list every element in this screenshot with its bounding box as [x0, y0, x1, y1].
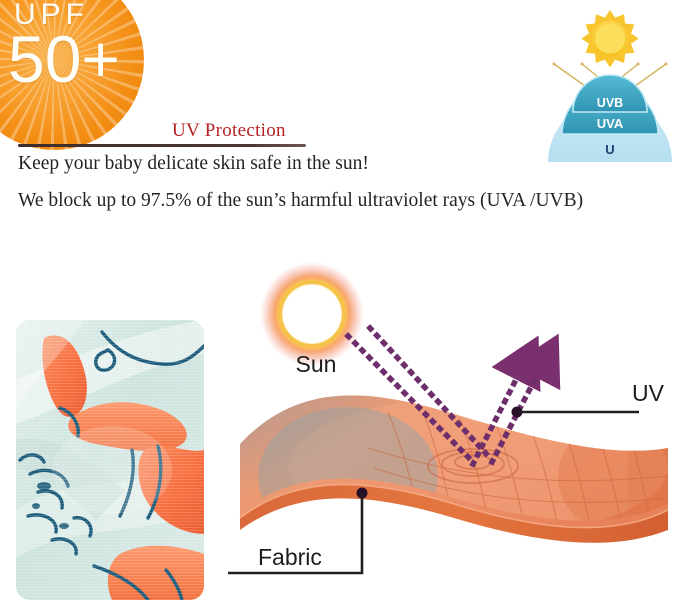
uv-label: UV [632, 380, 665, 406]
uv-layer-u-label: U [605, 142, 614, 157]
upf-badge: UPF 50+ [0, 0, 144, 150]
fabric-label: Fabric [258, 544, 322, 570]
tagline-secondary: We block up to 97.5% of the sun’s harmfu… [18, 190, 583, 212]
sun-icon [581, 10, 638, 67]
badge-text-group: UPF 50+ [0, 0, 144, 150]
uv-leader [512, 407, 640, 418]
uv-layer-uva-label: UVA [597, 116, 624, 131]
upf-rating-value: 50+ [8, 26, 120, 92]
poster-root: UPF 50+ UV Protection Keep your baby del… [0, 0, 679, 612]
sun-label: Sun [296, 351, 337, 377]
tagline-primary: Keep your baby delicate skin safe in the… [18, 153, 369, 175]
fabric-weave-texture [16, 320, 204, 600]
uv-fabric-diagram: Sun [228, 262, 679, 612]
uv-layers-graphic: U UVA UVB [540, 2, 679, 162]
uv-layer-uvb-label: UVB [597, 96, 623, 110]
uv-layer-uvb: UVB [573, 75, 647, 112]
page-title: UV Protection [172, 120, 286, 142]
header-divider [18, 144, 306, 147]
fabric-swatch-photo [16, 320, 204, 600]
